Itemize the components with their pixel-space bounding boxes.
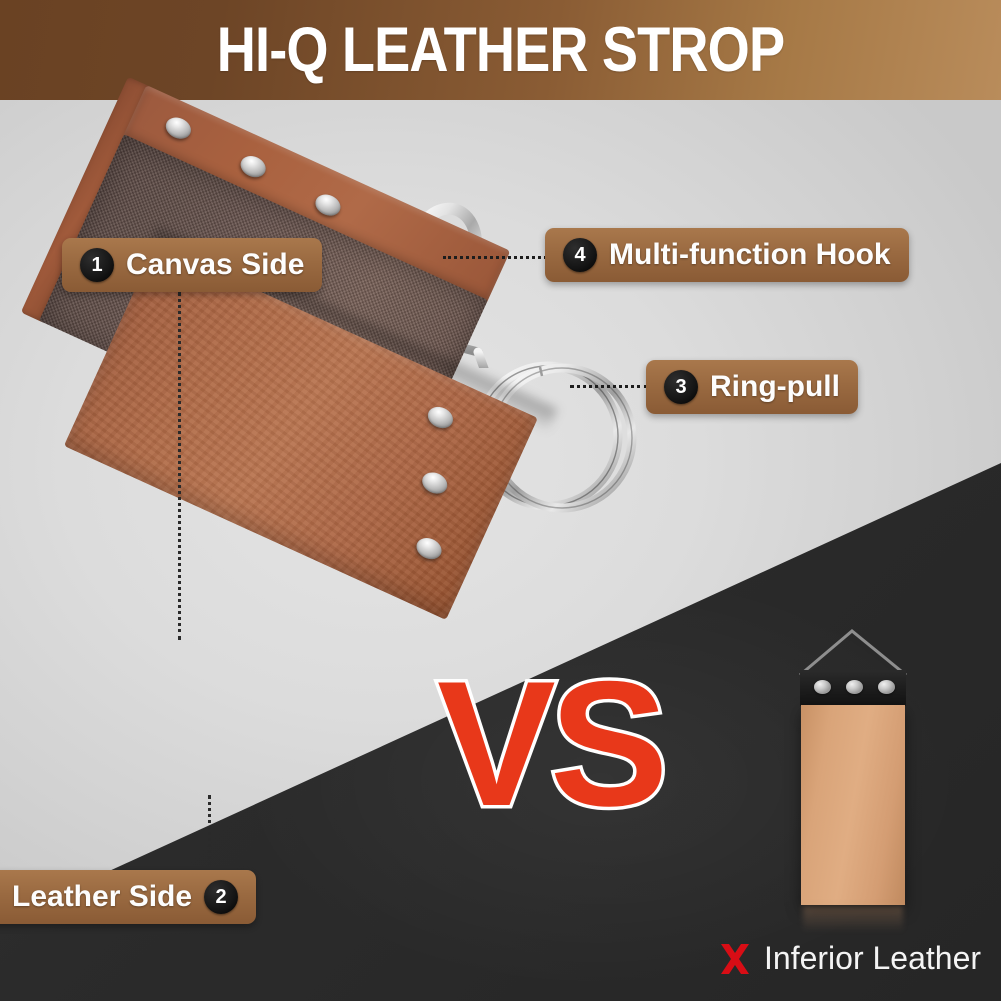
rivet [162, 114, 194, 143]
infographic-canvas: HI-Q LEATHER STROP Strop Construction,Le… [0, 0, 1001, 1001]
leader-line-canvas [178, 292, 181, 640]
callout-label-4: Multi-function Hook [609, 238, 891, 272]
callout-label-2: Leather Side [12, 880, 192, 914]
leader-line-hook [443, 256, 547, 259]
callout-badge-1: 1 [80, 248, 114, 282]
rivet [814, 680, 831, 694]
rivet [419, 469, 451, 498]
rivet [878, 680, 895, 694]
callout-ring-pull[interactable]: 3 Ring-pull [646, 360, 858, 414]
callout-badge-2: 2 [204, 880, 238, 914]
inferior-leather-label: Inferior Leather [718, 940, 981, 977]
callout-label-1: Canvas Side [126, 248, 304, 282]
leader-line-ring [570, 385, 648, 388]
red-x-icon [718, 942, 752, 976]
callout-leather-side[interactable]: Leather Side 2 [0, 870, 256, 924]
vs-label: VS [437, 655, 662, 833]
callout-canvas-side[interactable]: 1 Canvas Side [62, 238, 322, 292]
inferior-leather-text: Inferior Leather [764, 940, 981, 977]
inferior-strop-product [790, 625, 915, 925]
inferior-leather-surface [801, 705, 905, 905]
rivet [312, 191, 344, 220]
rivet [413, 534, 445, 563]
rivet [846, 680, 863, 694]
callout-badge-4: 4 [563, 238, 597, 272]
inferior-reflection [803, 906, 903, 932]
callout-badge-3: 3 [664, 370, 698, 404]
rivet [237, 152, 269, 181]
leader-line-leather [208, 795, 211, 873]
callout-label-3: Ring-pull [710, 370, 840, 404]
rivet [424, 403, 456, 432]
callout-multi-function-hook[interactable]: 4 Multi-function Hook [545, 228, 909, 282]
